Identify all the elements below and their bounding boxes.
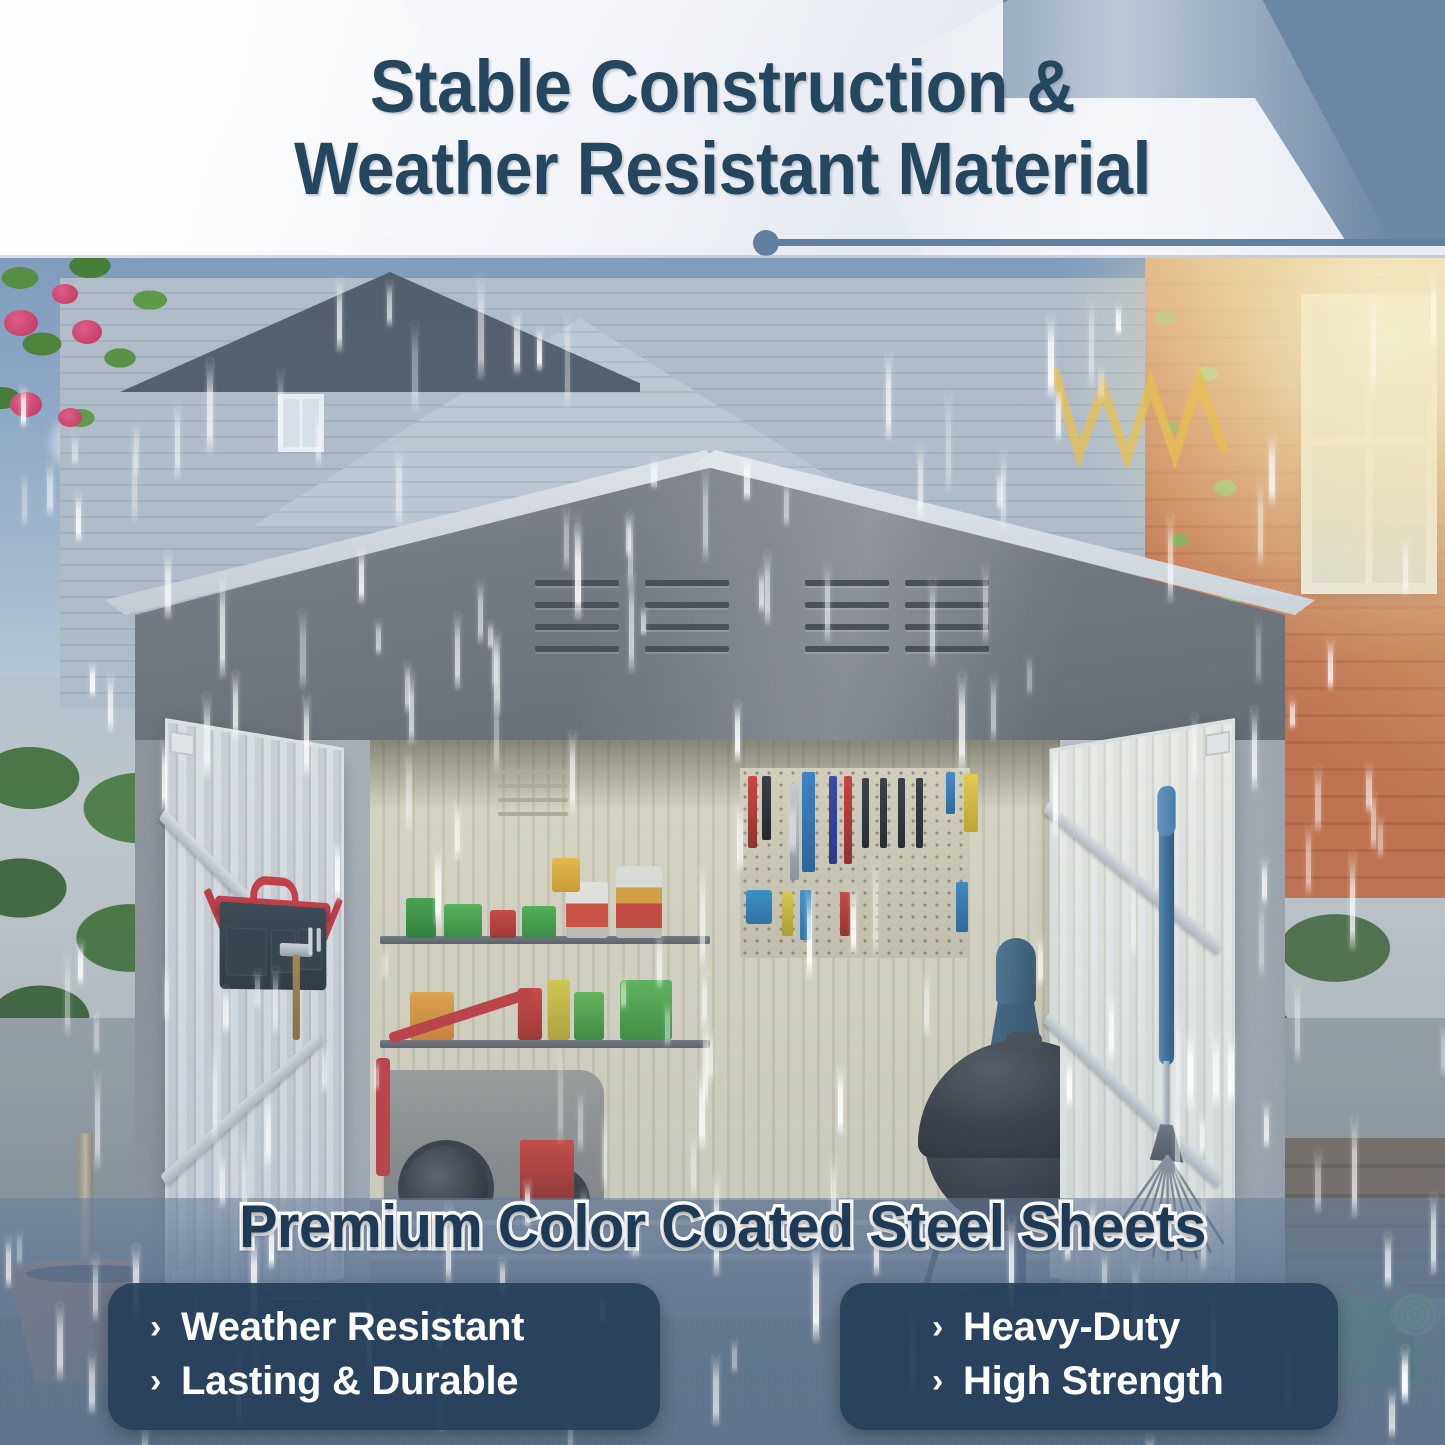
feature-item: › Lasting & Durable [142,1355,626,1409]
chevron-right-icon: › [150,1305,161,1351]
feature-label: High Strength [963,1355,1224,1409]
chevron-right-icon: › [150,1359,161,1405]
feature-box-right: › Heavy-Duty › High Strength [840,1283,1338,1430]
feature-item: › High Strength [874,1355,1304,1409]
feature-label: Lasting & Durable [181,1355,518,1409]
feature-box-left: › Weather Resistant › Lasting & Durable [108,1283,660,1430]
rain-haze [0,258,1445,1445]
product-photo [0,258,1445,1445]
header-divider [0,228,1445,254]
chevron-right-icon: › [932,1305,943,1351]
divider-rule [776,239,1445,246]
feature-label: Heavy-Duty [963,1301,1180,1355]
header-banner: Stable Construction & Weather Resistant … [0,0,1445,258]
feature-label: Weather Resistant [181,1301,524,1355]
page-title: Stable Construction & Weather Resistant … [58,46,1387,210]
steel-headline: Premium Color Coated Steel Sheets [29,1192,1416,1261]
feature-item: › Heavy-Duty [874,1301,1304,1355]
product-feature-poster: Stable Construction & Weather Resistant … [0,0,1445,1445]
chevron-right-icon: › [932,1359,943,1405]
feature-item: › Weather Resistant [142,1301,626,1355]
